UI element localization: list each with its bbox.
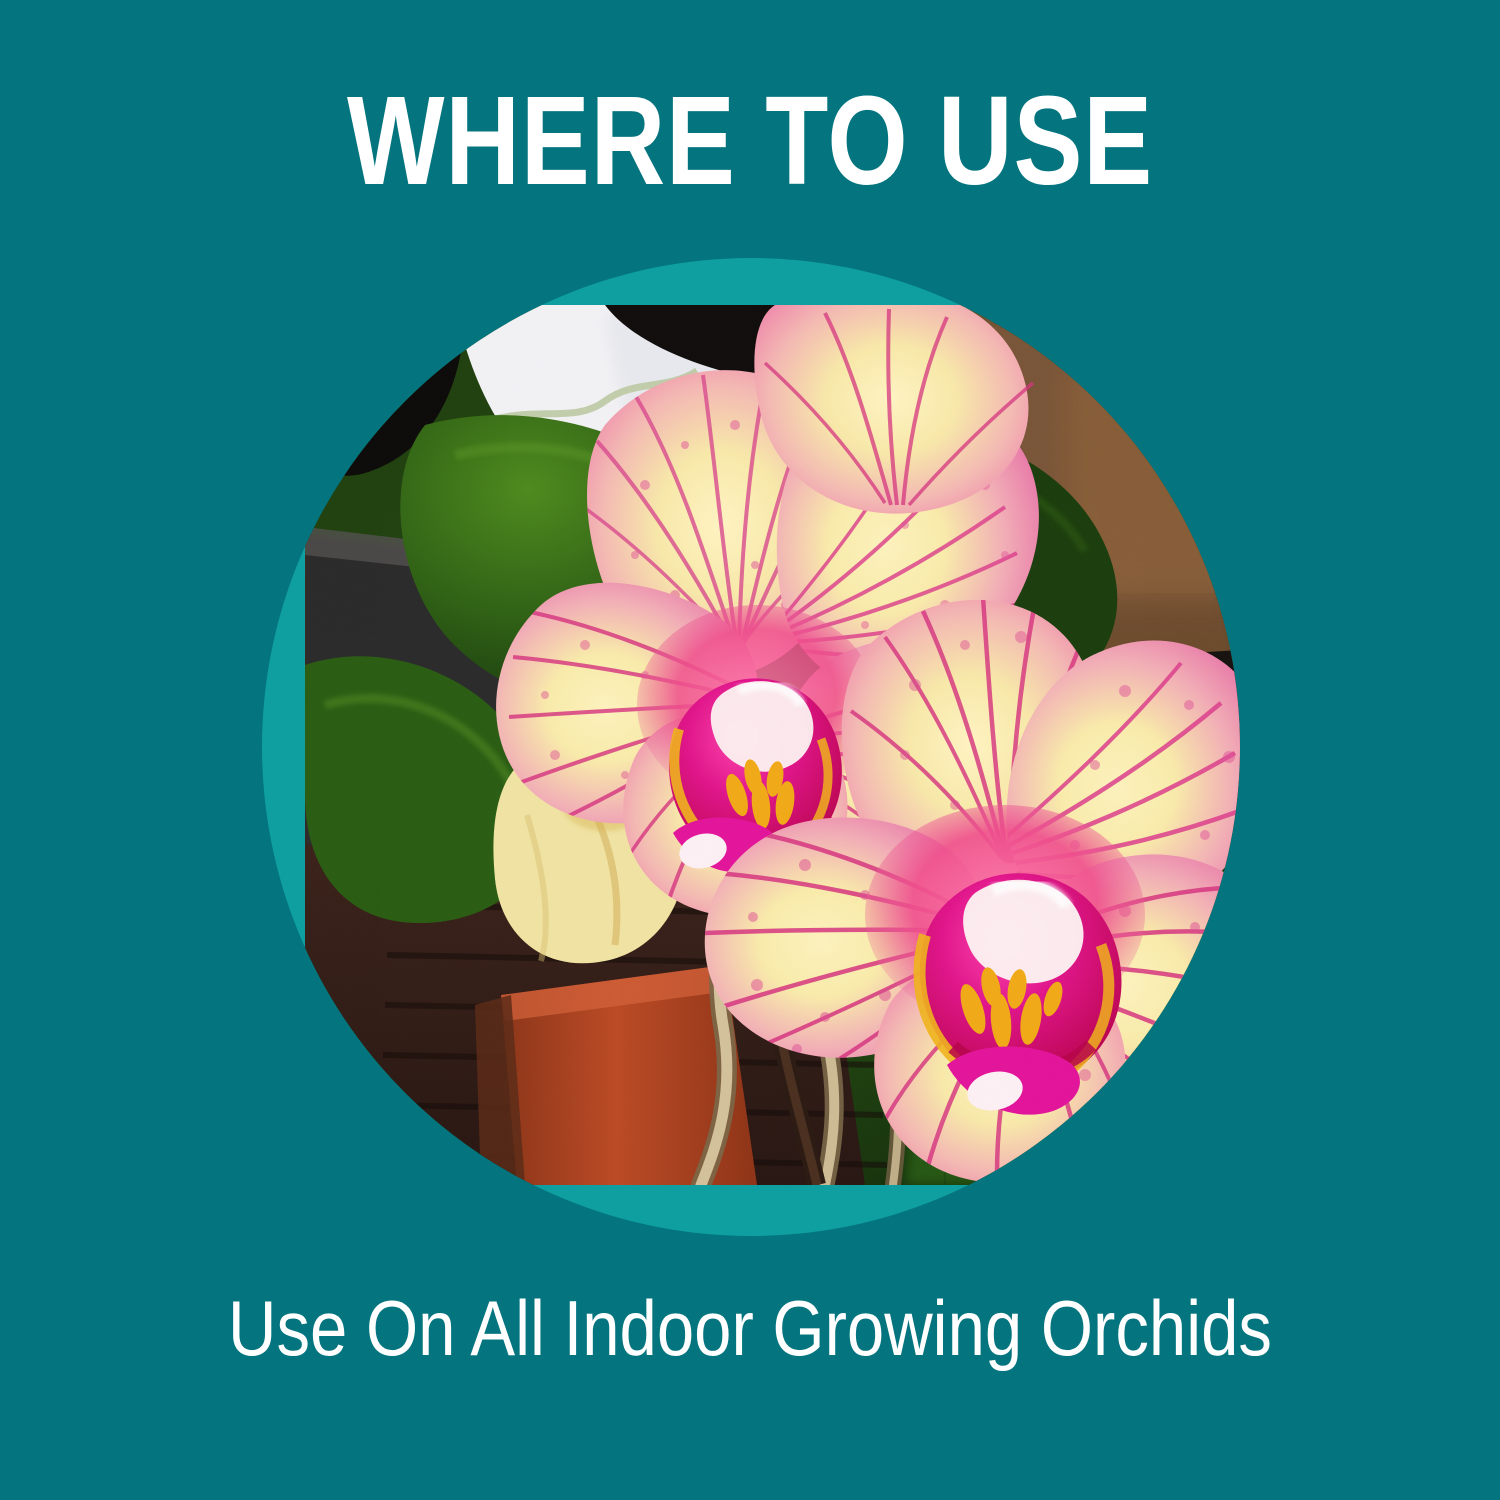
caption-text: Use On All Indoor Growing Orchids <box>105 1288 1395 1370</box>
orchid-photo-circle <box>262 258 1240 1236</box>
photo-clip-mask <box>262 258 1240 1236</box>
page-title: WHERE TO USE <box>135 78 1365 204</box>
poster-canvas: WHERE TO USE <box>0 0 1500 1500</box>
orchid-photo <box>305 305 1240 1185</box>
